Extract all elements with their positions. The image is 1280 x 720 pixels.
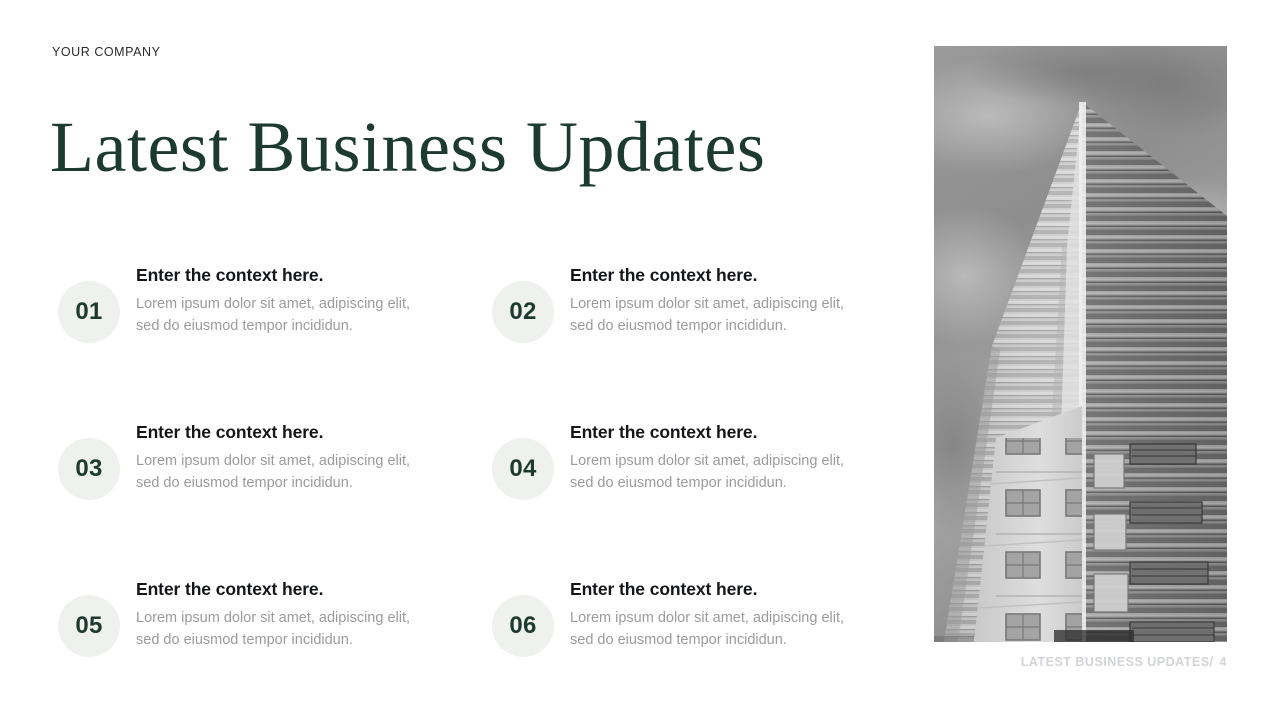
building-photo-illustration (934, 46, 1227, 642)
item-description: Lorem ipsum dolor sit amet, adipiscing e… (136, 294, 436, 337)
slide-canvas: YOUR COMPANY Latest Business Updates 01 … (0, 0, 1280, 720)
item-number: 06 (509, 614, 536, 638)
item-number: 04 (509, 457, 536, 481)
item-content: Enter the context here. Lorem ipsum dolo… (136, 264, 458, 337)
list-item: 03 Enter the context here. Lorem ipsum d… (58, 421, 458, 500)
item-description: Lorem ipsum dolor sit amet, adipiscing e… (570, 451, 870, 494)
item-heading: Enter the context here. (136, 421, 458, 443)
item-number-badge: 04 (492, 438, 554, 500)
item-number-badge: 03 (58, 438, 120, 500)
item-heading: Enter the context here. (136, 578, 458, 600)
item-number: 05 (75, 614, 102, 638)
slide-footer: LATEST BUSINESS UPDATES/4 (1021, 655, 1227, 669)
item-description: Lorem ipsum dolor sit amet, adipiscing e… (136, 451, 436, 494)
item-description: Lorem ipsum dolor sit amet, adipiscing e… (570, 294, 870, 337)
list-item: 06 Enter the context here. Lorem ipsum d… (492, 578, 892, 657)
page-title: Latest Business Updates (50, 104, 765, 190)
list-item: 02 Enter the context here. Lorem ipsum d… (492, 264, 892, 343)
item-description: Lorem ipsum dolor sit amet, adipiscing e… (570, 608, 870, 651)
page-number: 4 (1220, 655, 1227, 669)
list-item: 05 Enter the context here. Lorem ipsum d… (58, 578, 458, 657)
item-content: Enter the context here. Lorem ipsum dolo… (570, 421, 892, 494)
list-item: 01 Enter the context here. Lorem ipsum d… (58, 264, 458, 343)
item-number: 01 (75, 300, 102, 324)
item-heading: Enter the context here. (570, 264, 892, 286)
item-number-badge: 06 (492, 595, 554, 657)
item-number-badge: 05 (58, 595, 120, 657)
item-number-badge: 02 (492, 281, 554, 343)
item-content: Enter the context here. Lorem ipsum dolo… (136, 578, 458, 651)
item-number: 02 (509, 300, 536, 324)
item-description: Lorem ipsum dolor sit amet, adipiscing e… (136, 608, 436, 651)
building-photo (934, 46, 1227, 642)
item-content: Enter the context here. Lorem ipsum dolo… (570, 264, 892, 337)
item-heading: Enter the context here. (136, 264, 458, 286)
item-heading: Enter the context here. (570, 421, 892, 443)
company-name-label: YOUR COMPANY (52, 45, 160, 59)
item-heading: Enter the context here. (570, 578, 892, 600)
item-content: Enter the context here. Lorem ipsum dolo… (570, 578, 892, 651)
item-content: Enter the context here. Lorem ipsum dolo… (136, 421, 458, 494)
item-number: 03 (75, 457, 102, 481)
footer-label: LATEST BUSINESS UPDATES/ (1021, 655, 1214, 669)
item-number-badge: 01 (58, 281, 120, 343)
updates-list: 01 Enter the context here. Lorem ipsum d… (58, 264, 868, 657)
list-item: 04 Enter the context here. Lorem ipsum d… (492, 421, 892, 500)
